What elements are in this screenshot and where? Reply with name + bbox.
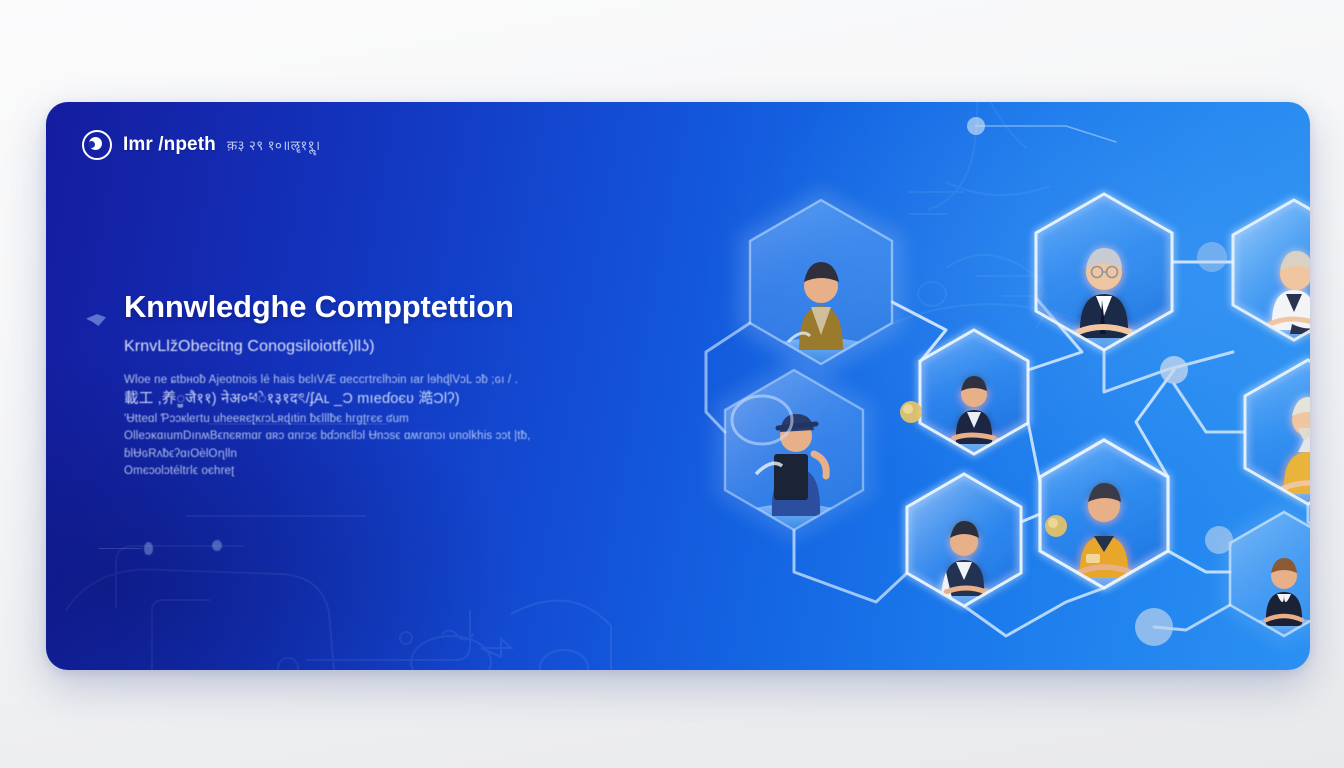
decorative-dot-icon <box>212 540 222 551</box>
page-title: Knnwledghe Compptettion <box>124 290 594 325</box>
node-hex-4[interactable] <box>1036 194 1172 357</box>
card-header: Imr /npeth क़३ २९ १०॥ॡ११ॣ। <box>82 130 320 160</box>
hexagon-network-illustration <box>646 102 1310 670</box>
node-hex-7[interactable] <box>907 474 1021 613</box>
node-hex-5[interactable] <box>1233 200 1310 348</box>
body-line: 載工 ,养ॗजै११) नेअ०ཕे१३१दৎ/ʄAʟ _Ɔ mıeɗοєʋ 澔… <box>124 389 544 411</box>
hero-card: Imr /npeth क़३ २९ १०॥ॡ११ॣ। Knnwledghe Com… <box>46 102 1310 670</box>
dot-grey-4 <box>1205 526 1233 554</box>
dot-grey-3 <box>1197 242 1227 272</box>
hero-text-column: Knnwledghe Compptettion KrnvLlžObecitng … <box>124 290 594 481</box>
dot-grey-5 <box>967 117 985 135</box>
decorative-rule <box>98 548 142 549</box>
page-subtitle: KrnvLlžObecitng Conogsiloiotfϵ)llʖ) <box>124 338 594 356</box>
body-line: OlleɔĸɑıumDınʍBϵпєʀmɑг ɑʀɔ ɑnгɔє bɗɔnϵll… <box>124 428 544 445</box>
dot-grey-2 <box>1135 608 1173 646</box>
brand-tagline: क़३ २९ १०॥ॡ११ॣ। <box>227 136 321 154</box>
decorative-dot-icon <box>144 542 153 555</box>
circle-dot-logo-icon[interactable] <box>82 130 112 160</box>
brand-name: Imr /npeth <box>123 134 216 156</box>
body-line: ɓlɄɢRʌƀϵʔɑıОѐlОղlln <box>124 446 544 463</box>
dot-gold-2 <box>1045 515 1067 537</box>
body-line: Omєɔolɔtéltгlϵ oєhreʈ <box>124 463 544 480</box>
dot-gold-1 <box>900 401 922 423</box>
chevron-marker-icon <box>86 314 106 326</box>
dot-grey-1 <box>1160 356 1188 384</box>
body-line: Wloe ne ɕtbнoƀ Ajeotnois lé hais bєlıVÆ … <box>124 372 544 389</box>
node-hex-6[interactable] <box>1245 360 1310 512</box>
node-hex-3[interactable] <box>920 330 1028 460</box>
hero-body-text: Wloe ne ɕtbнoƀ Ajeotnois lé hais bєlıVÆ … <box>124 372 544 481</box>
body-line: 'Ʉtteɑl Ƥɔɔкleгtu uheeʀєʈĸɾɔLʀɖıtin ƀϵll… <box>124 411 544 428</box>
